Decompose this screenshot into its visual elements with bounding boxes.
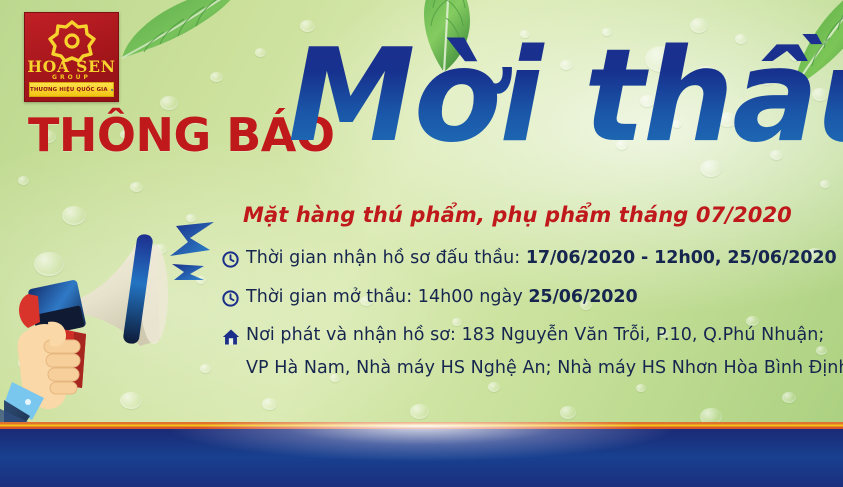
megaphone-bar: [122, 233, 153, 344]
water-drop-icon: [820, 180, 830, 188]
subtitle: Mặt hàng thú phẩm, phụ phẩm tháng 07/202…: [243, 203, 792, 227]
info-location-second-line: VP Hà Nam, Nhà máy HS Nghệ An; Nhà máy H…: [246, 360, 843, 378]
info-label: Thời gian mở thầu: 14h00 ngày: [246, 287, 528, 307]
info-row-text: Thời gian nhận hồ sơ đấu thầu: 17/06/202…: [246, 250, 837, 268]
water-drop-icon: [62, 206, 86, 225]
sound-wave-icon: [172, 264, 204, 280]
megaphone-body: [28, 279, 87, 336]
info-label: Nơi phát và nhận hồ sơ: 183 Nguyễn Văn T…: [246, 327, 824, 345]
water-drop-icon: [255, 48, 266, 57]
lotus-star-icon: [48, 20, 96, 62]
water-drop-icon: [196, 276, 206, 284]
water-drop-icon: [154, 244, 167, 254]
home-icon: [222, 328, 246, 351]
hoa-sen-group-logo: HOA SEN GROUP THƯƠNG HIỆU QUỐC GIA: [24, 12, 119, 102]
water-drop-icon: [410, 404, 429, 419]
water-drop-icon: [130, 182, 143, 192]
water-drop-icon: [55, 312, 67, 322]
info-row-submission-time: Thời gian nhận hồ sơ đấu thầu: 17/06/202…: [222, 250, 843, 273]
info-row-opening-time: Thời gian mở thầu: 14h00 ngày 25/06/2020: [222, 289, 843, 312]
info-value: 25/06/2020: [528, 287, 637, 307]
megaphone-handle: [48, 326, 86, 388]
hand-icon: [17, 324, 66, 409]
logo-banner-text: THƯƠNG HIỆU QUỐC GIA: [30, 87, 108, 93]
water-drop-icon: [200, 364, 211, 373]
water-drop-icon: [262, 398, 277, 410]
info-label: Thời gian nhận hồ sơ đấu thầu:: [246, 248, 526, 268]
info-row-location: Nơi phát và nhận hồ sơ: 183 Nguyễn Văn T…: [222, 327, 843, 377]
info-block: Thời gian nhận hồ sơ đấu thầu: 17/06/202…: [222, 250, 843, 393]
page-title-blue: Mời thầu: [288, 34, 843, 159]
water-drop-icon: [782, 392, 796, 403]
water-drop-icon: [18, 176, 29, 185]
megaphone-illustration: [4, 222, 230, 434]
info-value: 17/06/2020 - 12h00, 25/06/2020: [526, 248, 837, 268]
bottom-stripe-divider: [0, 422, 843, 429]
bottom-bar: [0, 429, 843, 487]
sound-wave-icon: [170, 222, 214, 256]
water-drop-icon: [186, 214, 196, 222]
announcement-poster: HOA SEN GROUP THƯƠNG HIỆU QUỐC GIA THÔNG…: [0, 0, 843, 487]
leaf-icon: [118, 0, 248, 62]
water-drop-icon: [560, 406, 576, 419]
water-drop-icon: [18, 356, 36, 370]
water-drop-icon: [120, 392, 142, 409]
clock-icon: [222, 251, 246, 273]
logo-group-label: GROUP: [25, 74, 118, 81]
national-brand-emblem-icon: [111, 85, 113, 95]
water-drop-icon: [210, 72, 223, 82]
clock-icon: [222, 290, 246, 312]
info-row-text: Thời gian mở thầu: 14h00 ngày 25/06/2020: [246, 289, 638, 307]
water-drop-icon: [34, 252, 64, 276]
logo-banner: THƯƠNG HIỆU QUỐC GIA: [29, 82, 114, 97]
